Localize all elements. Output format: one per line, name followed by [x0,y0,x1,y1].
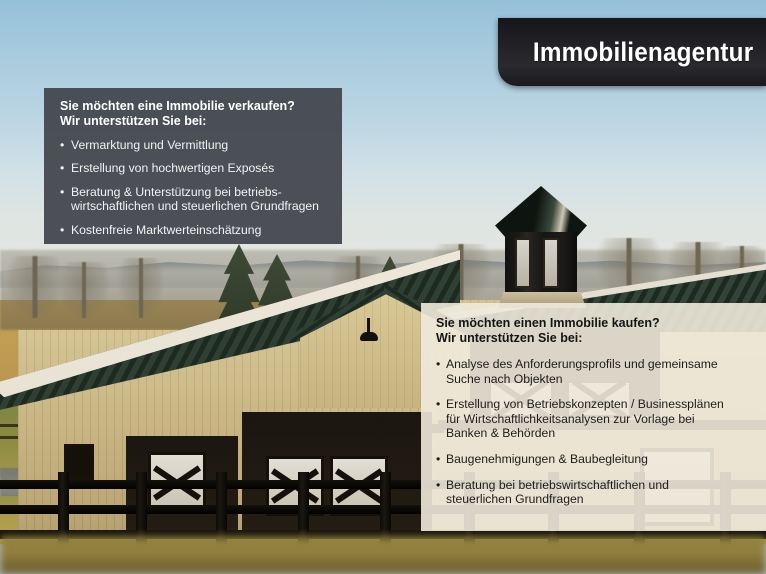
list-item-line: Erstellung von Betriebskonzepten / Busin… [446,397,756,412]
list-item: • Vermarktung und Vermittlung [60,138,328,152]
sell-panel-heading: Sie möchten eine Immobilie verkaufen? Wi… [60,99,328,129]
list-item: • Beratung bei betriebswirtschaftlichen … [436,478,756,507]
list-item-line: für Wirtschaftlichkeitsanalysen zur Vorl… [446,412,756,427]
slide-canvas: Immobilienagentur Sie möchten eine Immob… [0,0,766,574]
list-item-line: Beratung & Unterstützung bei betriebs- [71,185,328,199]
list-item: • Baugenehmigungen & Baubegleitung [436,452,756,467]
bullet-icon: • [436,357,440,372]
sell-heading-line-1: Sie möchten eine Immobilie verkaufen? [60,99,328,114]
header-banner: Immobilienagentur [498,18,766,86]
list-item-line: Suche nach Objekten [446,372,756,387]
bare-tree [58,262,110,318]
bullet-icon: • [60,138,64,152]
foreground-field-blur [0,536,766,574]
bullet-icon: • [60,185,64,199]
list-item-line: Banken & Behörden [446,426,756,441]
list-item: • Erstellung von hochwertigen Exposés [60,161,328,175]
page-title: Immobilienagentur [533,37,766,68]
buy-heading-line-2: Wir unterstützen Sie bei: [436,331,756,346]
buy-heading-line-1: Sie möchten einen Immobilie kaufen? [436,316,756,331]
list-item-line: steuerlichen Grundfragen [446,492,756,507]
barn-gable-lamp-shade [360,332,378,341]
bullet-icon: • [60,161,64,175]
cupola-window [515,238,531,288]
list-item-line: Vermarktung und Vermittlung [71,138,328,152]
list-item-line: Kostenfreie Marktwerteinschätzung [71,223,328,237]
buy-services-list: • Analyse des Anforderungsprofils und ge… [436,357,756,507]
sell-services-list: • Vermarktung und Vermittlung • Erstellu… [60,138,328,237]
buy-panel-heading: Sie möchten einen Immobilie kaufen? Wir … [436,316,756,346]
bullet-icon: • [436,452,440,467]
list-item-line: wirtschaftlichen und steuerlichen Grundf… [71,199,328,213]
list-item-line: Beratung bei betriebswirtschaftlichen un… [446,478,756,493]
bullet-icon: • [436,478,440,493]
list-item-line: Analyse des Anforderungsprofils und geme… [446,357,756,372]
bullet-icon: • [436,397,440,412]
list-item: • Beratung & Unterstützung bei betriebs-… [60,185,328,214]
list-item-line: Baugenehmigungen & Baubegleitung [446,452,756,467]
cupola-window [543,238,559,288]
list-item: • Kostenfreie Marktwerteinschätzung [60,223,328,237]
bullet-icon: • [60,223,64,237]
list-item-line: Erstellung von hochwertigen Exposés [71,161,328,175]
buy-services-panel: Sie möchten einen Immobilie kaufen? Wir … [421,303,766,531]
sell-services-panel: Sie möchten eine Immobilie verkaufen? Wi… [44,88,342,244]
bare-tree [118,258,164,318]
list-item: • Analyse des Anforderungsprofils und ge… [436,357,756,386]
list-item: • Erstellung von Betriebskonzepten / Bus… [436,397,756,441]
bare-tree [6,256,64,318]
sell-heading-line-2: Wir unterstützen Sie bei: [60,114,328,129]
